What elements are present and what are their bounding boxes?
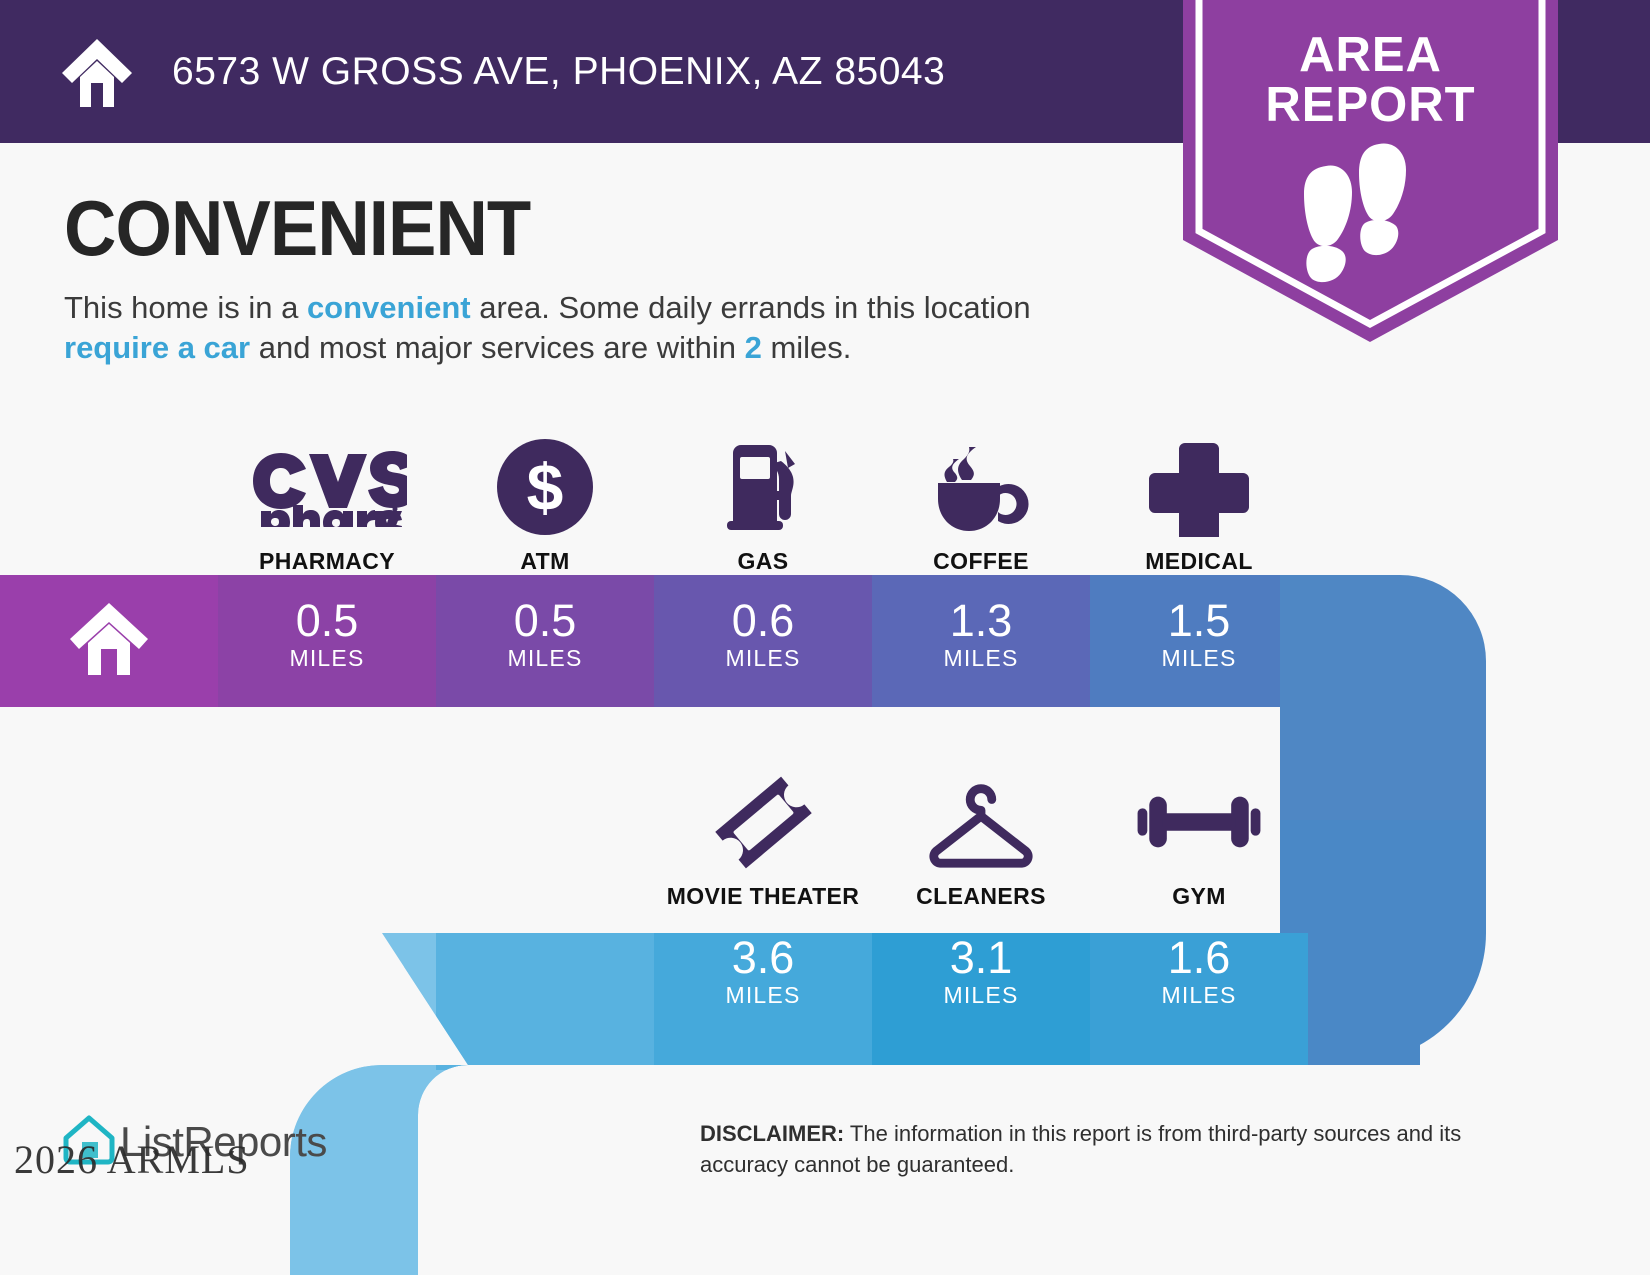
amenity-medical: MEDICAL bbox=[1090, 420, 1308, 575]
amenity-icons-row-1: PHARMACY $ ATM bbox=[0, 420, 1650, 575]
page-title: CONVENIENT bbox=[64, 187, 530, 269]
subtitle-part-4: miles. bbox=[762, 330, 852, 365]
dollar-circle-icon: $ bbox=[495, 432, 595, 542]
mls-watermark: 2026 ARMLS bbox=[14, 1136, 250, 1183]
page-subtitle: This home is in a convenient area. Some … bbox=[64, 288, 1094, 368]
amenity-pharmacy: PHARMACY bbox=[218, 420, 436, 575]
subtitle-part-2: area. Some daily errands in this locatio… bbox=[471, 290, 1031, 325]
amenity-gas: GAS bbox=[654, 420, 872, 575]
amenity-label: COFFEE bbox=[933, 548, 1029, 575]
home-marker-cell bbox=[0, 575, 218, 707]
subtitle-highlight-1: convenient bbox=[307, 290, 471, 325]
area-report-page: 6573 W GROSS AVE, PHOENIX, AZ 85043 AREA… bbox=[0, 0, 1650, 1275]
subtitle-part-1: This home is in a bbox=[64, 290, 307, 325]
disclaimer-label: DISCLAIMER: bbox=[700, 1121, 844, 1146]
home-icon bbox=[66, 599, 152, 684]
amenity-label: GAS bbox=[737, 548, 788, 575]
subtitle-highlight-2: require a car bbox=[64, 330, 250, 365]
area-report-badge: AREA REPORT bbox=[1183, 0, 1558, 342]
amenity-label: ATM bbox=[520, 548, 569, 575]
gas-pump-icon bbox=[713, 432, 813, 542]
amenity-atm: $ ATM bbox=[436, 420, 654, 575]
coffee-cup-icon bbox=[926, 432, 1036, 542]
disclaimer: DISCLAIMER: The information in this repo… bbox=[700, 1118, 1520, 1180]
svg-text:$: $ bbox=[527, 450, 564, 524]
subtitle-highlight-3: 2 bbox=[745, 330, 762, 365]
home-icon bbox=[58, 33, 136, 111]
amenity-label: MEDICAL bbox=[1145, 548, 1253, 575]
cvs-pharmacy-logo bbox=[247, 432, 407, 542]
property-address: 6573 W GROSS AVE, PHOENIX, AZ 85043 bbox=[172, 50, 945, 94]
amenity-coffee: COFFEE bbox=[872, 420, 1090, 575]
subtitle-part-3: and most major services are within bbox=[250, 330, 744, 365]
amenity-label: PHARMACY bbox=[259, 548, 395, 575]
snake-bottom-row bbox=[280, 930, 1428, 1275]
medical-cross-icon bbox=[1149, 432, 1249, 542]
